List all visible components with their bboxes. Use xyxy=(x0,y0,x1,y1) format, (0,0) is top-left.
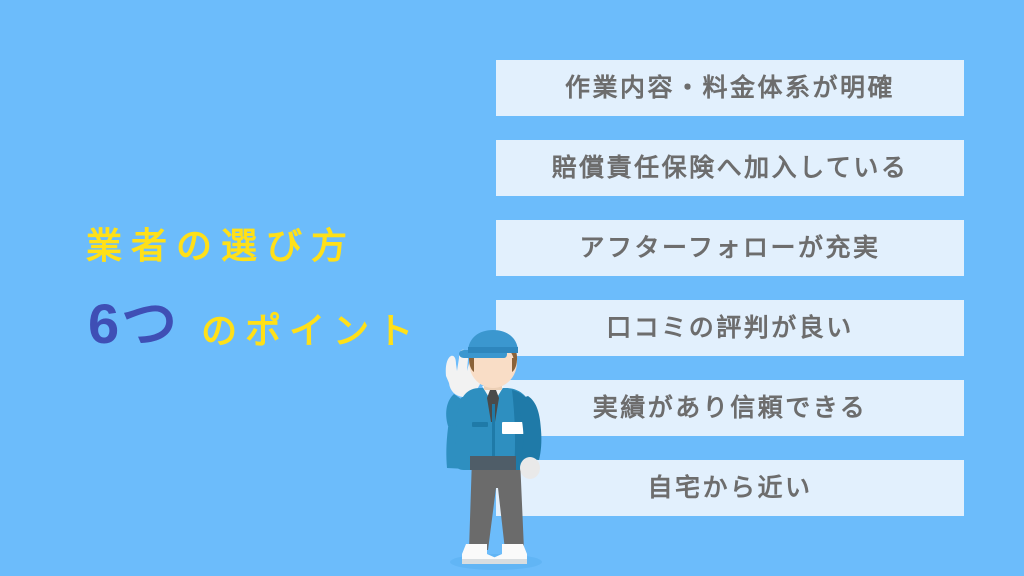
name-tag xyxy=(502,422,524,434)
point-bar: 作業内容・料金体系が明確 xyxy=(496,60,964,116)
point-bar: アフターフォローが充実 xyxy=(496,220,964,276)
headline-suffix: のポイント xyxy=(201,313,421,349)
shoe-left-sole xyxy=(462,559,496,564)
point-bar-list: 作業内容・料金体系が明確 賠償責任保険へ加入している アフターフォローが充実 口… xyxy=(496,60,964,540)
point-bar: 実績があり信頼できる xyxy=(496,380,964,436)
cap-band xyxy=(468,347,518,353)
headline-line-1: 業者の選び方 xyxy=(86,228,356,264)
point-bar-label: 作業内容・料金体系が明確 xyxy=(565,76,895,101)
point-bar-label: 実績があり信頼できる xyxy=(593,396,868,421)
point-bar-label: アフターフォローが充実 xyxy=(579,236,880,261)
point-bar: 賠償責任保険へ加入している xyxy=(496,140,964,196)
hand-glove xyxy=(520,457,540,479)
jacket-hem xyxy=(470,456,516,470)
headline-line-2: 6つ のポイント xyxy=(88,296,421,352)
trousers xyxy=(469,458,524,550)
point-bar: 口コミの評判が良い xyxy=(496,300,964,356)
point-bar-label: 賠償責任保険へ加入している xyxy=(552,156,909,181)
point-bar-label: 口コミの評判が良い xyxy=(606,316,854,341)
point-bar: 自宅から近い xyxy=(496,460,964,516)
headline-count: 6つ xyxy=(88,296,179,352)
jacket-pocket xyxy=(472,422,488,427)
point-bar-label: 自宅から近い xyxy=(647,476,812,501)
headline-block: 業者の選び方 6つ のポイント xyxy=(0,214,470,364)
slide-canvas: 業者の選び方 6つ のポイント 作業内容・料金体系が明確 賠償責任保険へ加入して… xyxy=(0,0,1024,576)
shoe-right-sole xyxy=(493,559,527,564)
worker-character-illustration xyxy=(428,330,558,576)
